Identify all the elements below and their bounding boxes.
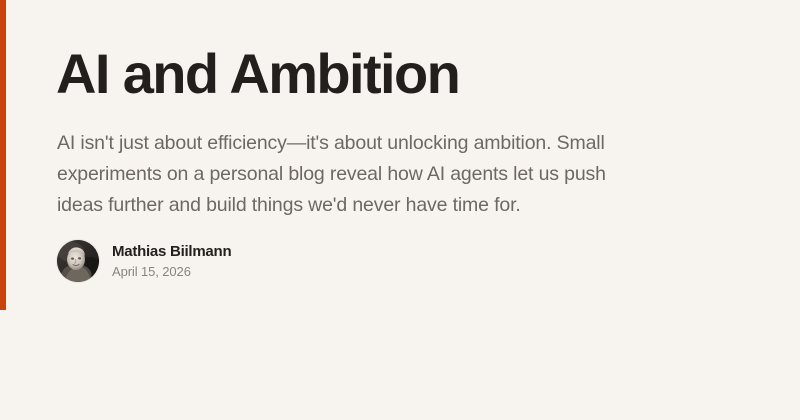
article-deck: AI isn't just about efficiency—it's abou… [57, 128, 647, 221]
author-name: Mathias Biilmann [112, 243, 231, 261]
accent-bar [0, 0, 6, 310]
byline-text: Mathias Biilmann April 15, 2026 [112, 243, 231, 280]
publish-date: April 15, 2026 [112, 263, 231, 280]
article-header-content: AI and Ambition AI isn't just about effi… [56, 0, 756, 420]
byline: Mathias Biilmann April 15, 2026 [57, 240, 231, 282]
page-title: AI and Ambition [56, 44, 459, 104]
avatar [57, 240, 99, 282]
article-hero: AI and Ambition AI isn't just about effi… [0, 0, 800, 420]
